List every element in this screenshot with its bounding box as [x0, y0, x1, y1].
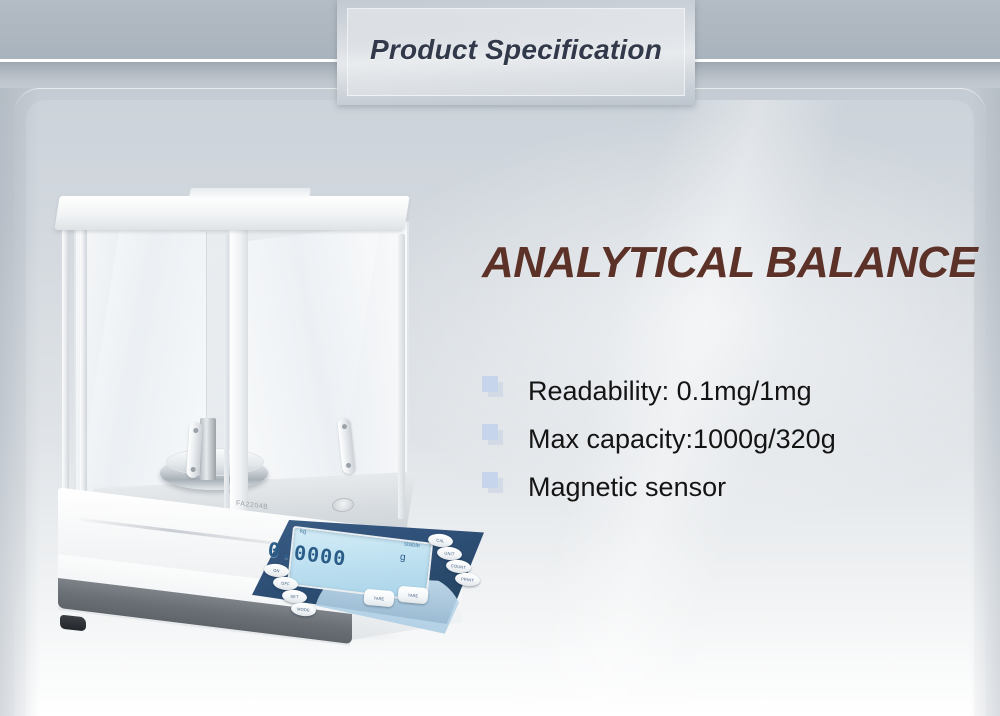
list-item: Magnetic sensor — [482, 464, 942, 512]
keypad-button-tare-left[interactable]: TARE — [363, 589, 394, 608]
analytical-balance-illustration: FA2204B kg stable 0.0000 g ON OFF SET MO… — [40, 180, 480, 630]
draft-shield-post-center-rear — [224, 234, 229, 520]
draft-shield-post-left-outer — [62, 222, 69, 519]
list-item: Max capacity:1000g/320g — [482, 416, 942, 464]
spec-sensor: Magnetic sensor — [528, 473, 726, 503]
bullet-square-icon — [482, 472, 500, 490]
product-specification-slide: Product Specification — [0, 0, 1000, 716]
control-panel: kg stable 0.0000 g ON OFF SET MODE CAL U… — [252, 520, 484, 624]
header-banner: Product Specification — [337, 0, 695, 105]
draft-shield-front-corner — [230, 226, 248, 522]
specification-list: Readability: 0.1mg/1mg Max capacity:1000… — [482, 368, 942, 512]
handle-screw-icon — [190, 467, 195, 472]
handle-screw-icon — [342, 424, 347, 429]
keypad-button-tare-right[interactable]: TARE — [397, 586, 428, 605]
handle-screw-icon — [193, 428, 198, 433]
lcd-weight-unit: g — [399, 552, 406, 564]
draft-shield-post-left-inner — [80, 226, 87, 515]
bullet-square-icon — [482, 424, 500, 442]
handle-screw-icon — [346, 463, 351, 468]
list-item: Readability: 0.1mg/1mg — [482, 368, 942, 416]
spec-max-capacity: Max capacity:1000g/320g — [528, 425, 836, 455]
page-title: ANALYTICAL BALANCE — [482, 238, 977, 288]
bullet-square-icon — [482, 376, 500, 394]
draft-shield-top-slider[interactable] — [189, 188, 311, 198]
draft-shield-top-cover — [54, 196, 409, 230]
leveling-foot[interactable] — [60, 615, 86, 632]
lcd-unit-indicator-icon: kg — [300, 529, 307, 536]
header-title: Product Specification — [337, 34, 695, 66]
draft-shield-post-right — [398, 234, 405, 520]
spec-readability: Readability: 0.1mg/1mg — [528, 377, 812, 407]
